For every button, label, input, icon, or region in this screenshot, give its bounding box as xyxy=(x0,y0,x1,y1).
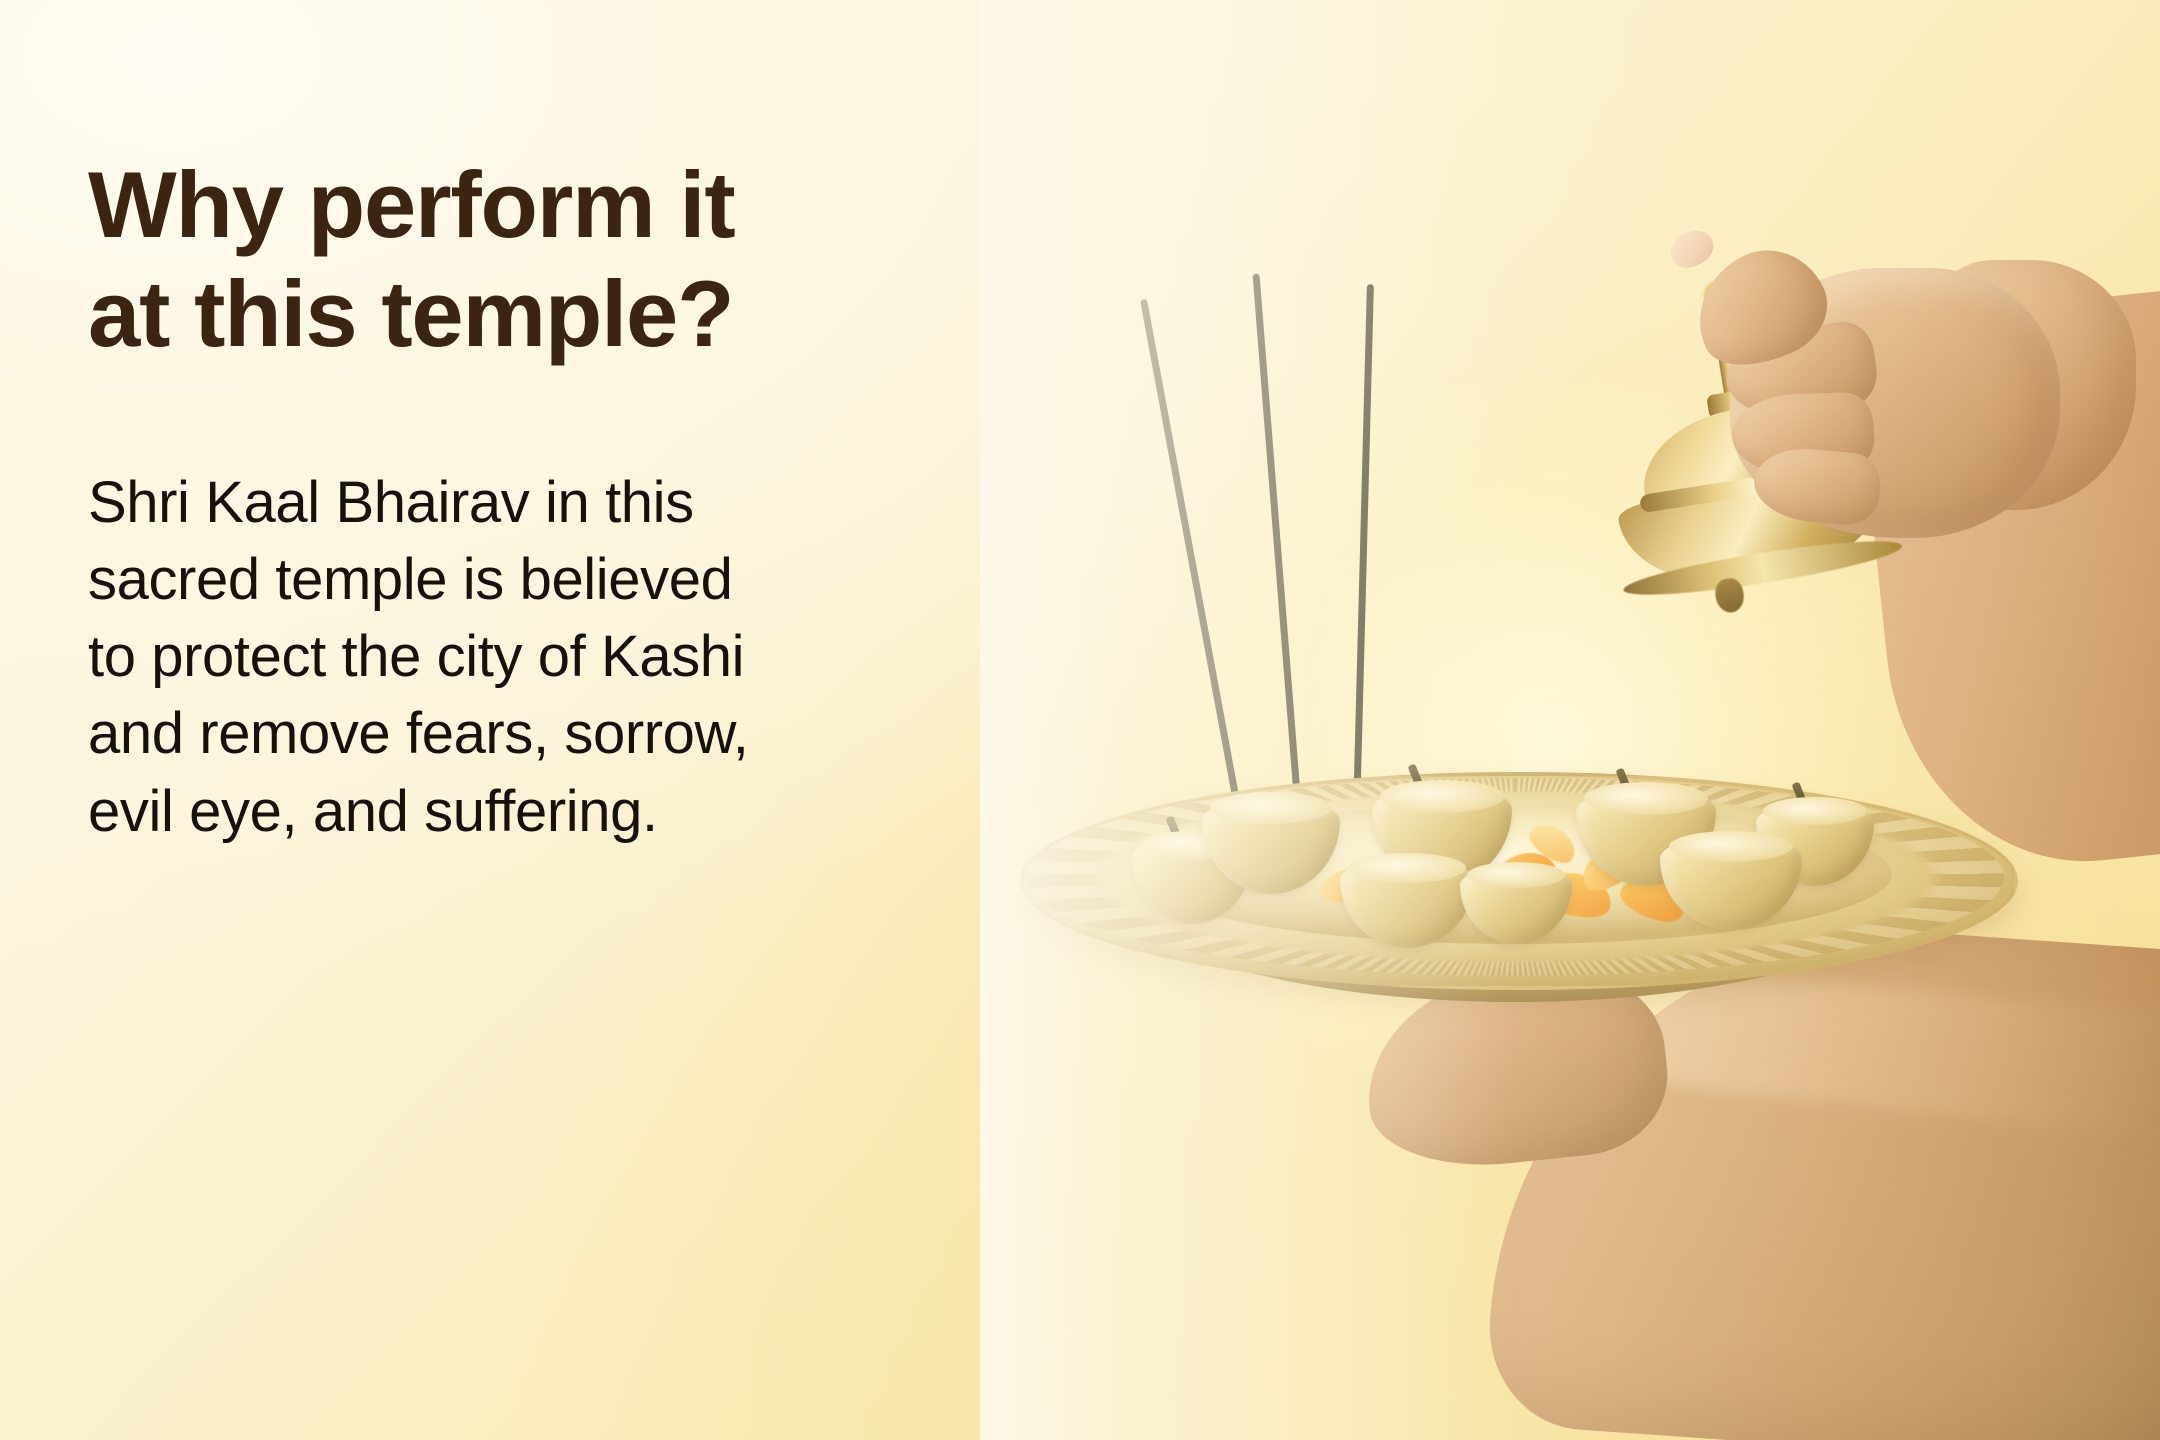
page-title: Why perform it at this temple? xyxy=(88,150,1088,368)
ring-finger xyxy=(1751,445,1883,528)
body-paragraph: Shri Kaal Bhairav in this sacred temple … xyxy=(88,368,1088,850)
aarti-thali-icon xyxy=(1020,742,2010,1012)
slide-canvas: Why perform it at this temple? Shri Kaal… xyxy=(0,0,2160,1440)
aarti-photo xyxy=(980,0,2160,1440)
text-column: Why perform it at this temple? Shri Kaal… xyxy=(88,150,1088,850)
hand-icon xyxy=(1670,232,2160,652)
thumbnail xyxy=(1665,224,1720,275)
